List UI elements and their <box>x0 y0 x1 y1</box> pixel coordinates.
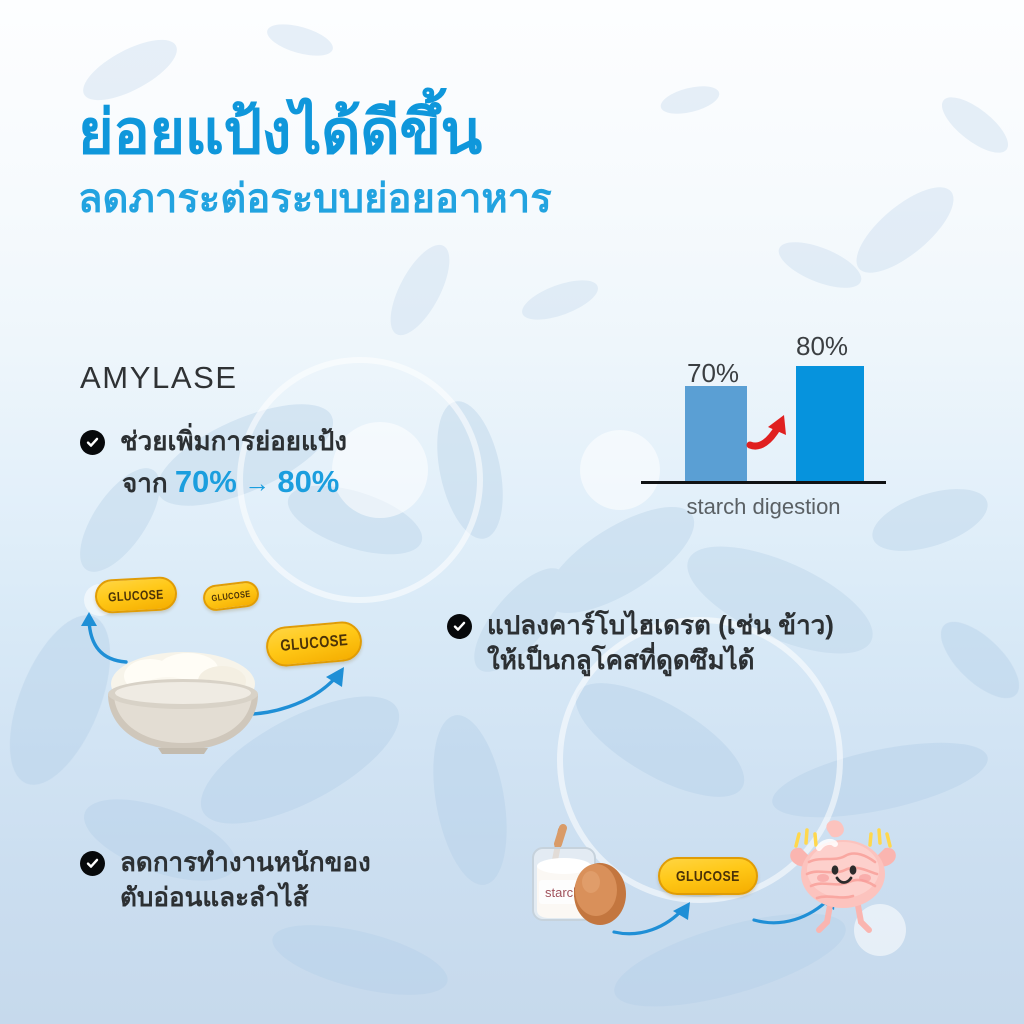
chart-x-axis-label: starch digestion <box>641 494 886 520</box>
amylase-heading: AMYLASE <box>80 360 238 396</box>
page-title: ย่อยแป้งได้ดีขึ้น <box>78 100 552 164</box>
bullet-3-line-2: ตับอ่อนและลำไส้ <box>120 880 371 915</box>
value-from: 70% <box>175 464 237 499</box>
bullet-1-line-2: จาก 70% → 80% <box>80 461 460 503</box>
check-circle-icon <box>80 430 105 455</box>
check-circle-icon <box>447 614 472 639</box>
starch-digestion-bar-chart: 70% 80% starch digestion <box>641 336 886 526</box>
header-block: ย่อยแป้งได้ดีขึ้น ลดภาระต่อระบบย่อยอาหาร <box>78 100 552 222</box>
bullet-1-prefix: จาก <box>122 468 168 498</box>
chart-axis-line <box>641 481 886 484</box>
bullet-3-line-1: ลดการทำงานหนักของ <box>120 845 371 880</box>
bullet-1-line-1: ช่วยเพิ่มการย่อยแป้ง <box>120 424 347 459</box>
red-up-arrow-icon <box>746 409 796 453</box>
bullet-2-line-2: ให้เป็นกลูโคสที่ดูดซึมได้ <box>487 643 834 678</box>
bullet-item-reduce-load: ลดการทำงานหนักของ ตับอ่อนและลำไส้ <box>80 845 480 915</box>
curved-arrow-icon <box>610 898 694 940</box>
bullet-item-digestion-boost: ช่วยเพิ่มการย่อยแป้ง จาก 70% → 80% <box>80 424 460 502</box>
bar-value-label-1: 70% <box>687 358 739 389</box>
arrow-glyph: → <box>244 468 270 498</box>
bullet-3-text-group: ลดการทำงานหนักของ ตับอ่อนและลำไส้ <box>120 845 371 915</box>
bullet-2-text-group: แปลงคาร์โบไฮเดรต (เช่น ข้าว) ให้เป็นกลูโ… <box>487 608 834 678</box>
glucose-pill: GLUCOSE <box>202 580 261 613</box>
glucose-pill-label: GLUCOSE <box>108 586 164 604</box>
rice-bowl-illustration <box>88 636 278 754</box>
glucose-pill-label: GLUCOSE <box>279 632 348 656</box>
page-subtitle: ลดภาระต่อระบบย่อยอาหาร <box>78 176 552 222</box>
glucose-pill: GLUCOSE <box>264 620 363 668</box>
check-circle-icon <box>80 851 105 876</box>
glucose-pill-label: GLUCOSE <box>211 589 251 604</box>
intestine-character-illustration <box>779 812 907 940</box>
glucose-pill: GLUCOSE <box>658 857 758 895</box>
value-to: 80% <box>277 464 339 499</box>
infographic-poster: ย่อยแป้งได้ดีขึ้น ลดภาระต่อระบบย่อยอาหาร… <box>0 0 1024 1024</box>
glucose-pill-label: GLUCOSE <box>676 868 740 885</box>
chart-plot-area: 70% 80% <box>641 336 886 481</box>
bar-after <box>796 366 864 481</box>
bullet-item-convert-carbs: แปลงคาร์โบไฮเดรต (เช่น ข้าว) ให้เป็นกลูโ… <box>447 608 937 678</box>
bullet-2-line-1: แปลงคาร์โบไฮเดรต (เช่น ข้าว) <box>487 608 834 643</box>
bar-value-label-2: 80% <box>796 331 848 362</box>
bar-before <box>685 386 747 481</box>
